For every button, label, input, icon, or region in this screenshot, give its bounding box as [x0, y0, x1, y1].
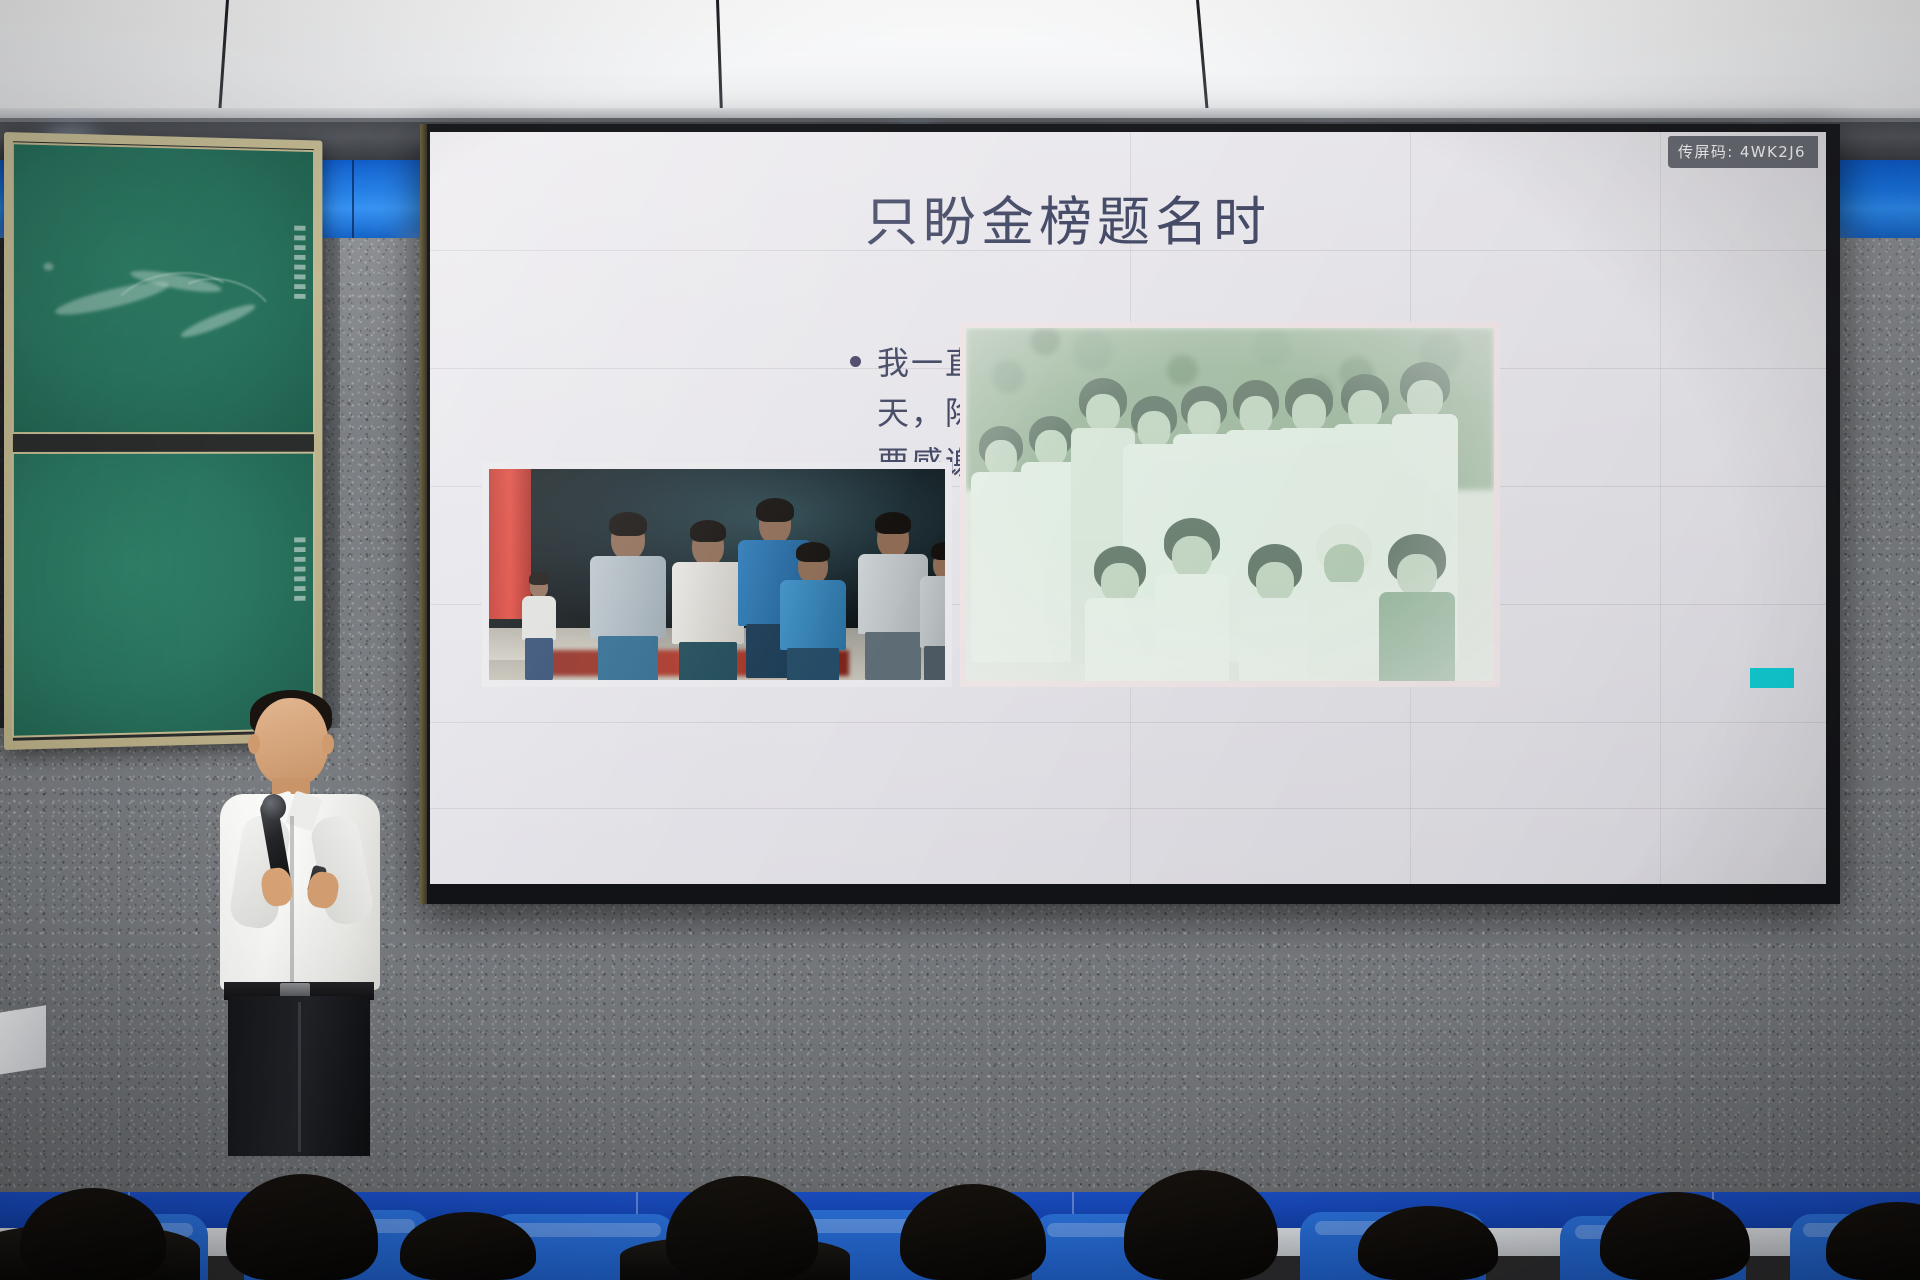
projection-screen-bezel: 只盼金榜题名时 我一直在想，能健康地走到今天，除了自己内心的坚强外，还要感谢一路…: [420, 124, 1840, 904]
presenter-trouser-pleat: [298, 1002, 301, 1152]
blackboard-ticks: [294, 537, 305, 600]
blackboard-ticks: [294, 226, 305, 299]
ceiling-panels: [0, 0, 1920, 118]
presenter-head: [254, 698, 328, 786]
cove-seam: [352, 160, 354, 238]
podium-corner: [0, 1005, 46, 1077]
presenter-ear: [322, 734, 334, 754]
presenter-shirt-placket: [290, 816, 294, 992]
blackboard: [4, 132, 322, 750]
presenter-ear: [248, 734, 260, 754]
projection-screen[interactable]: 只盼金榜题名时 我一直在想，能健康地走到今天，除了自己内心的坚强外，还要感谢一路…: [430, 132, 1826, 884]
blackboard-panel-top: [12, 142, 315, 434]
lecture-hall-scene: 只盼金榜题名时 我一直在想，能健康地走到今天，除了自己内心的坚强外，还要感谢一路…: [0, 0, 1920, 1280]
soffit-highlight: [0, 118, 1920, 122]
presenter: [214, 690, 384, 1130]
screen-cast-code-badge: 传屏码: 4WK2J6: [1668, 136, 1818, 168]
screen-sheen: [430, 132, 1826, 884]
chalk-smudge: [44, 263, 54, 271]
